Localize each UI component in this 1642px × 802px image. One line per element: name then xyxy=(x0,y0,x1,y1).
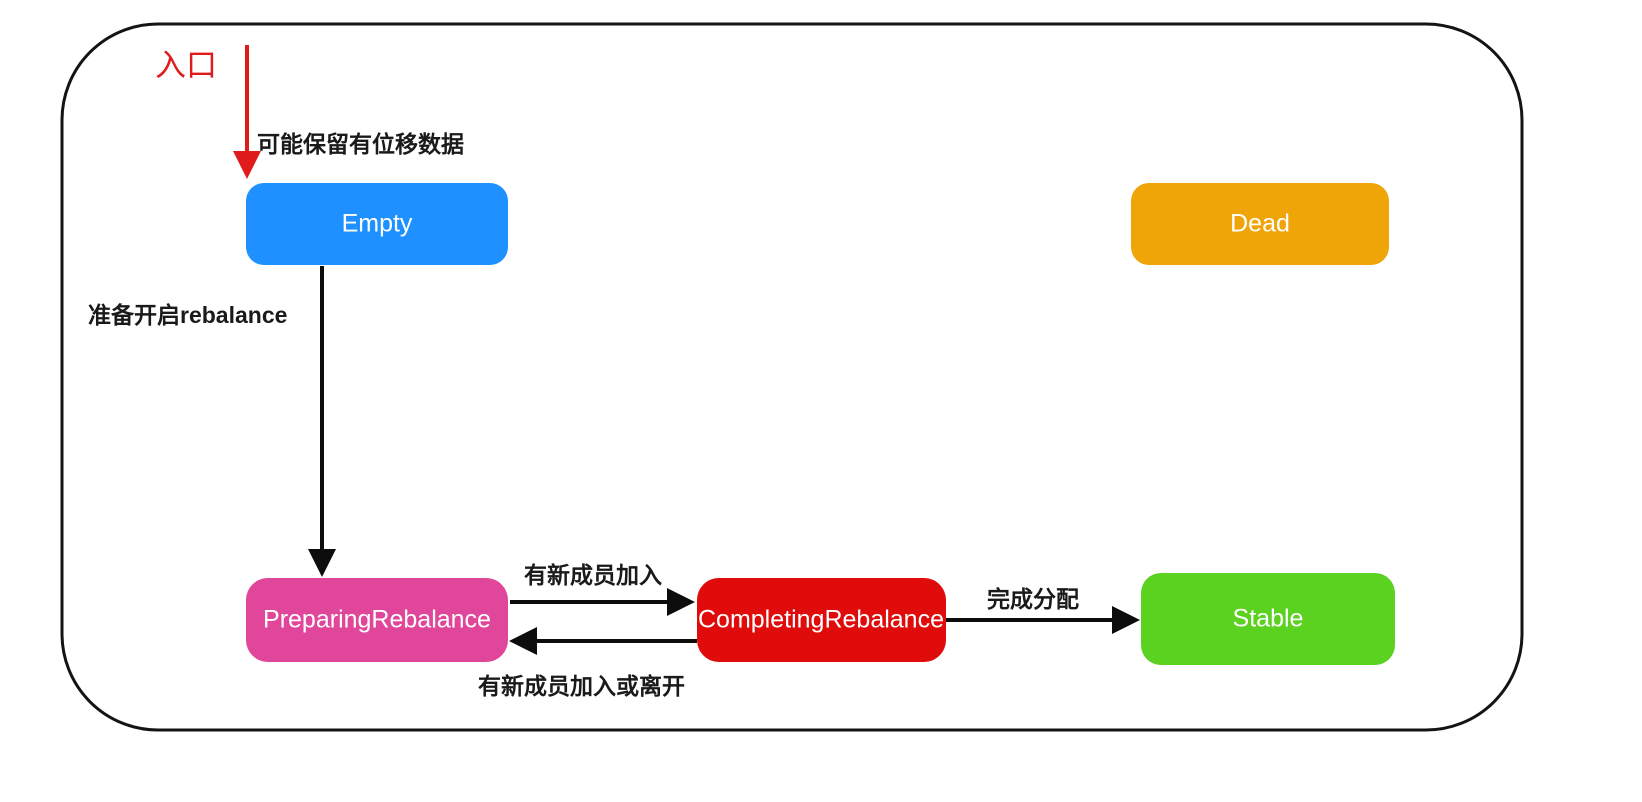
edge-label-completing-to-stable: 完成分配 xyxy=(987,586,1079,612)
node-preparing-rebalance[interactable]: PreparingRebalance xyxy=(246,578,508,662)
node-completing-rebalance[interactable]: CompletingRebalance xyxy=(697,578,946,662)
edge-label-entry-to-empty: 可能保留有位移数据 xyxy=(257,131,464,157)
node-preparing-rebalance-label: PreparingRebalance xyxy=(263,606,491,634)
diagram-svg: 入口 可能保留有位移数据 准备开启rebalance 有新成员加入 有新成员加入… xyxy=(0,0,1642,802)
node-empty[interactable]: Empty xyxy=(246,183,508,265)
node-dead[interactable]: Dead xyxy=(1131,183,1389,265)
entry-label: 入口 xyxy=(155,48,217,83)
node-stable[interactable]: Stable xyxy=(1141,573,1395,665)
node-completing-rebalance-label: CompletingRebalance xyxy=(698,606,944,634)
node-empty-label: Empty xyxy=(342,210,413,238)
node-dead-label: Dead xyxy=(1230,210,1290,238)
edge-label-empty-to-preparing: 准备开启rebalance xyxy=(88,302,287,328)
node-stable-label: Stable xyxy=(1233,605,1304,633)
state-diagram-canvas: 入口 可能保留有位移数据 准备开启rebalance 有新成员加入 有新成员加入… xyxy=(0,0,1642,802)
edge-label-completing-to-preparing: 有新成员加入或离开 xyxy=(478,673,685,699)
edge-label-preparing-to-completing: 有新成员加入 xyxy=(524,562,662,588)
